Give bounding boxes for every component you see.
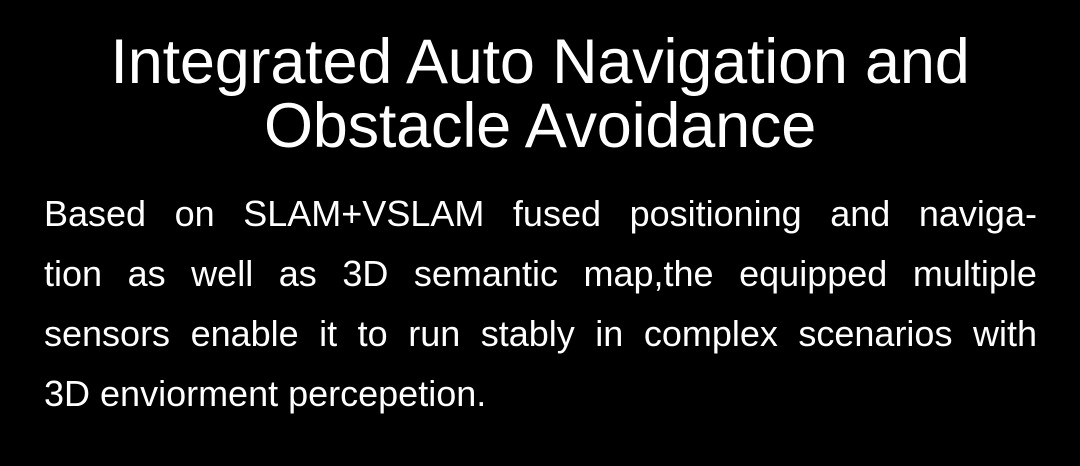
body-word: equipped xyxy=(739,244,887,304)
body-word: well xyxy=(191,244,253,304)
body-word: stably xyxy=(481,304,575,364)
body-word: it xyxy=(319,304,337,364)
title-line-2: Obstacle Avoidance xyxy=(0,94,1080,158)
body-word: map,the xyxy=(584,244,714,304)
body-word: semantic xyxy=(414,244,558,304)
body-line-3: sensors enable it to run stably in compl… xyxy=(44,304,1037,364)
body-word: SLAM+VSLAM xyxy=(243,184,484,244)
body-word: tion xyxy=(44,244,102,304)
body-word: naviga- xyxy=(919,184,1037,244)
body-line-4: 3D enviorment percepetion. xyxy=(44,364,1037,424)
body-word: Based xyxy=(44,184,146,244)
body-paragraph: Based on SLAM+VSLAM fused positioning an… xyxy=(44,184,1037,424)
body-word: and xyxy=(830,184,890,244)
body-word: on xyxy=(175,184,215,244)
body-line-2: tion as well as 3D semantic map,the equi… xyxy=(44,244,1037,304)
body-word: enable xyxy=(191,304,299,364)
body-word: multiple xyxy=(913,244,1037,304)
slide-body: Based on SLAM+VSLAM fused positioning an… xyxy=(44,184,1037,424)
body-word: positioning xyxy=(630,184,802,244)
body-word: scenarios xyxy=(798,304,952,364)
body-word: as xyxy=(279,244,317,304)
body-word: fused xyxy=(513,184,601,244)
body-word: as xyxy=(128,244,166,304)
body-word: 3D xyxy=(342,244,388,304)
body-word: in xyxy=(595,304,623,364)
body-word: complex xyxy=(644,304,778,364)
slide-canvas: Integrated Auto Navigation and Obstacle … xyxy=(0,0,1080,466)
body-word: to xyxy=(358,304,388,364)
body-word: run xyxy=(408,304,460,364)
body-word: sensors xyxy=(44,304,170,364)
slide-title: Integrated Auto Navigation and Obstacle … xyxy=(0,30,1080,158)
body-word: with xyxy=(973,304,1037,364)
title-line-1: Integrated Auto Navigation and xyxy=(0,30,1080,94)
body-line-1: Based on SLAM+VSLAM fused positioning an… xyxy=(44,184,1037,244)
